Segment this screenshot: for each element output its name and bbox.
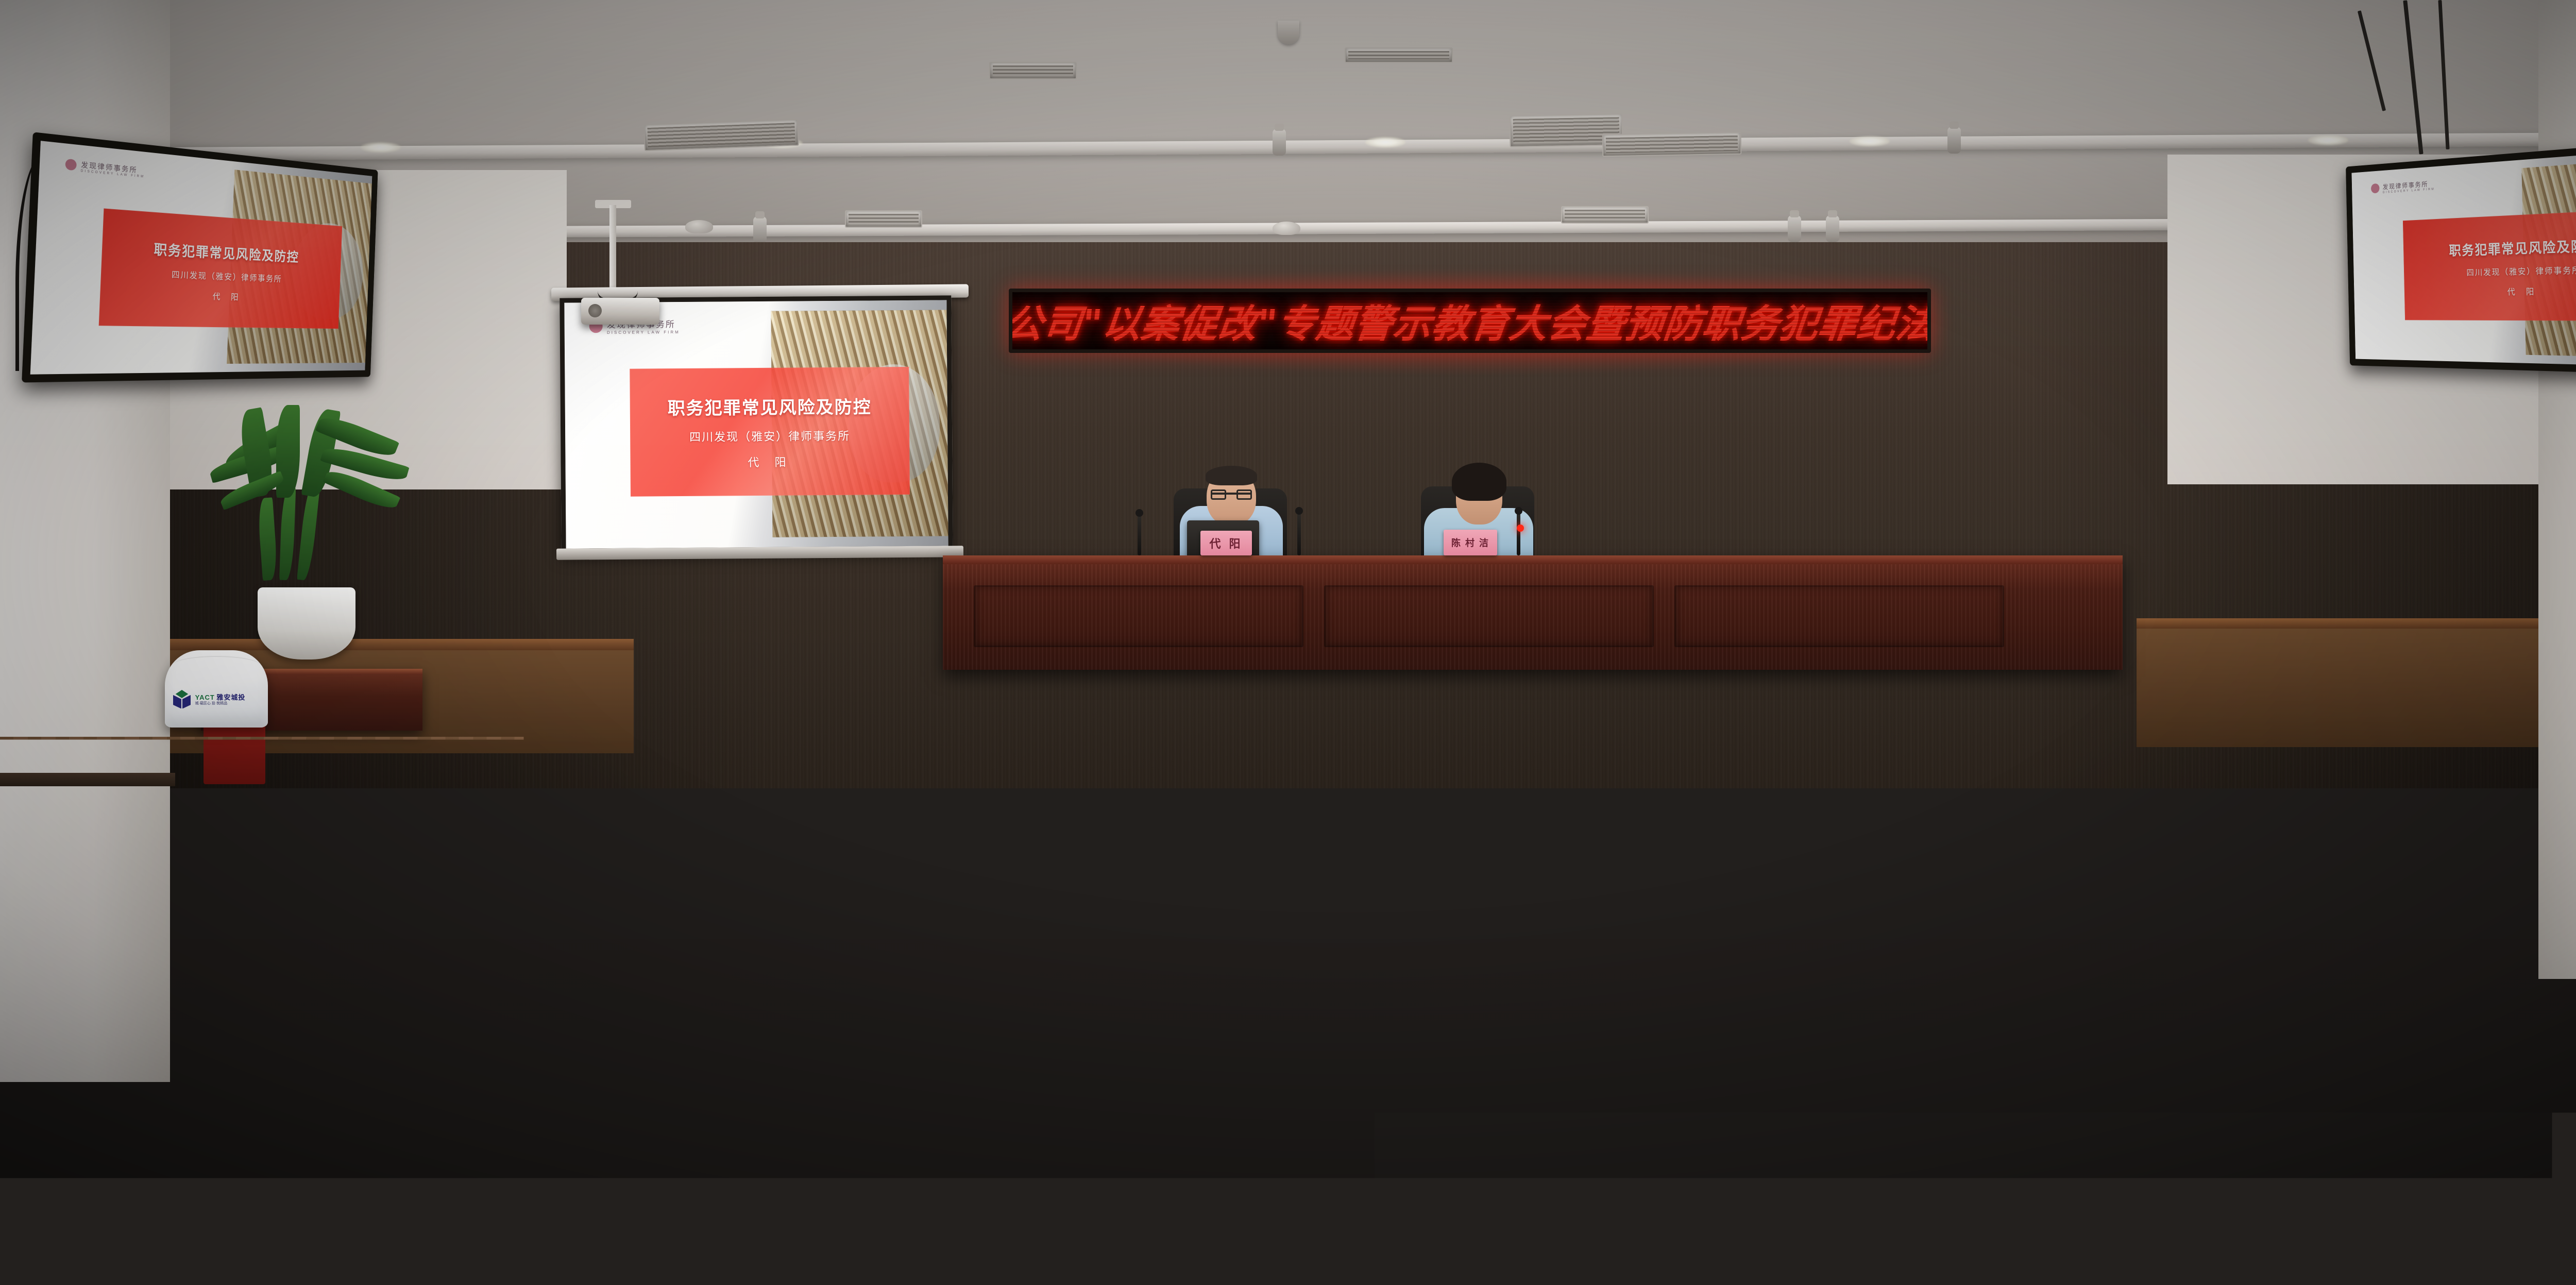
stage-speaker-hair — [1206, 466, 1257, 485]
smoke-detector-icon — [685, 220, 713, 233]
table-microphone — [1297, 513, 1301, 555]
led-banner-text: 城投公司"以案促改"专题警示教育大会暨预防职务犯罪纪法讲座 — [1009, 293, 1931, 348]
attendee — [783, 689, 833, 743]
attendee — [2298, 680, 2349, 737]
audience: YACT 雅安城投 城·载匠心 投·筑精品 YACT 雅安城投 城·载匠心 投·… — [0, 608, 2576, 1285]
slide-organization: 四川发现（雅安）律师事务所 — [2466, 263, 2576, 278]
brand-name-cn: 雅安城投 — [2262, 1188, 2330, 1206]
ceiling-downlight — [1365, 137, 1405, 147]
ceiling-downlight — [1850, 136, 1890, 146]
brand-tagline: 城·载匠心 投·筑精品 — [2212, 1208, 2330, 1216]
ceiling-air-vent — [643, 119, 799, 151]
brand-acronym: YACT — [529, 1205, 571, 1222]
brand-name-cn: 雅安城投 — [1443, 1194, 1511, 1212]
brand-text: YACT 雅安城投 城·载匠心 投·筑精品 — [2212, 1189, 2330, 1217]
projection-screen: 发现律师事务所 DISCOVERY LAW FIRM 职务犯罪常见风险及防控 四… — [560, 295, 953, 553]
ceiling-air-vent — [1602, 132, 1742, 157]
brand-text: YACT 雅安城投 城·载匠心 投·筑精品 — [529, 1206, 639, 1232]
ceiling-speaker-icon — [1278, 21, 1299, 44]
name-card-speaker-text: 代 阳 — [1209, 535, 1243, 551]
slide-organization: 四川发现（雅安）律师事务所 — [689, 427, 850, 445]
ceiling-projector — [581, 298, 659, 325]
ceiling-air-vent — [1345, 47, 1453, 63]
brand-name-cn: 雅安城投 — [1840, 1190, 1908, 1208]
brand-tagline: 城·载匠心 投·筑精品 — [529, 1224, 639, 1232]
audience-row-f — [0, 938, 2576, 1113]
cube-icon — [479, 1197, 518, 1241]
slide-title: 职务犯罪常见风险及防控 — [154, 239, 299, 265]
ceiling-spotlight-icon — [1788, 215, 1801, 242]
slide-organization: 四川发现（雅安）律师事务所 — [172, 267, 282, 284]
cube-icon — [1340, 1186, 1381, 1231]
brand-acronym: YACT — [1393, 1194, 1438, 1212]
foreground-attendee — [917, 1211, 1154, 1285]
smoke-detector-icon — [1273, 222, 1300, 235]
brand-acronym: YACT — [2212, 1188, 2258, 1206]
slide-title: 职务犯罪常见风险及防控 — [668, 393, 872, 419]
firm-subtitle: DISCOVERY LAW FIRM — [607, 330, 680, 335]
slide-title-block: 职务犯罪常见风险及防控 四川发现（雅安）律师事务所 代 阳 — [98, 209, 342, 329]
slide-speaker-name: 代 阳 — [2507, 284, 2538, 297]
microphone-indicator-led — [1517, 525, 1524, 532]
stage-host-hair — [1452, 463, 1506, 501]
ceiling-spotlight-icon — [1826, 215, 1839, 242]
wall-display-left: 发现律师事务所 DISCOVERY LAW FIRM 职务犯罪常见风险及防控 四… — [22, 132, 378, 382]
attendee — [2123, 681, 2174, 738]
cube-icon — [2160, 1180, 2201, 1225]
attendee — [1937, 684, 1987, 739]
ceiling-spotlight-icon — [1947, 127, 1961, 154]
brand-tagline: 城·载匠心 投·筑精品 — [1789, 1210, 1907, 1219]
ceiling-downlight — [2308, 135, 2348, 145]
foreground-attendee — [2349, 1170, 2576, 1285]
display-screen-left: 发现律师事务所 DISCOVERY LAW FIRM 职务犯罪常见风险及防控 四… — [30, 141, 372, 374]
table-microphone — [1517, 513, 1520, 555]
brand-name-cn: 雅安城投 — [576, 1205, 640, 1222]
chair-cover: YACT 雅安城投 城·载匠心 投·筑精品 — [459, 1118, 711, 1285]
firm-mark-icon — [2371, 183, 2380, 194]
glasses-icon — [1212, 493, 1251, 495]
display-screen-right: 发现律师事务所 DISCOVERY LAW FIRM 职务犯罪常见风险及防控 四… — [2351, 147, 2576, 368]
potted-palm-foliage — [191, 405, 407, 575]
foreground-attendee — [309, 1262, 510, 1285]
attendee — [289, 1005, 397, 1123]
brand-text: YACT 雅安城投 城·载匠心 投·筑精品 — [1789, 1191, 1907, 1219]
ceiling-downlight — [361, 142, 401, 153]
slide-title-block: 职务犯罪常见风险及防控 四川发现（雅安）律师事务所 代 阳 — [2403, 208, 2576, 321]
slide-title-block: 职务犯罪常见风险及防控 四川发现（雅安）律师事务所 代 阳 — [630, 367, 909, 497]
brand-logo: YACT 雅安城投 城·载匠心 投·筑精品 — [1340, 1175, 1566, 1244]
ceiling-air-vent — [989, 62, 1077, 79]
table-microphone — [1138, 515, 1141, 555]
wall-display-right: 发现律师事务所 DISCOVERY LAW FIRM 职务犯罪常见风险及防控 四… — [2346, 138, 2576, 376]
attendee-with-cap — [1072, 856, 1149, 892]
attendee — [1643, 688, 1693, 742]
ceiling-spotlight-icon — [753, 216, 767, 243]
seat: YACT 雅安城投 城·载匠心 投·筑精品 — [459, 1118, 711, 1285]
brand-text: YACT 雅安城投 城·载匠心 投·筑精品 — [1393, 1195, 1511, 1223]
brand-tagline: 城·载匠心 投·筑精品 — [1393, 1214, 1511, 1223]
slide-speaker-name: 代 阳 — [212, 290, 243, 303]
attendee — [979, 692, 1026, 744]
foreground-attendee — [608, 1273, 793, 1285]
attendee — [1819, 685, 1867, 739]
brand-logo: YACT 雅安城投 城·载匠心 投·筑精品 — [479, 1185, 696, 1252]
name-card-speaker: 代 阳 — [1200, 531, 1252, 555]
foreground-attendee — [0, 1190, 206, 1285]
ceiling-spotlight-icon — [1273, 129, 1286, 156]
name-card-host: 陈 村 洁 — [1444, 530, 1497, 555]
led-banner: 城投公司"以案促改"专题警示教育大会暨预防职务犯罪纪法讲座 — [1009, 289, 1931, 353]
firm-mark-icon — [65, 159, 77, 171]
ceiling-air-vent — [845, 210, 922, 228]
name-card-host-text: 陈 村 洁 — [1451, 536, 1489, 549]
slide-speaker-name: 代 阳 — [748, 453, 792, 470]
attendee — [662, 1015, 771, 1135]
ceiling-air-vent — [1561, 206, 1649, 224]
slide-title: 职务犯罪常见风险及防控 — [2449, 235, 2576, 259]
conference-hall-photo: 城投公司"以案促改"专题警示教育大会暨预防职务犯罪纪法讲座 发现律师事务所 DI… — [0, 0, 2576, 1285]
foreground-attendee — [1535, 1175, 1803, 1285]
